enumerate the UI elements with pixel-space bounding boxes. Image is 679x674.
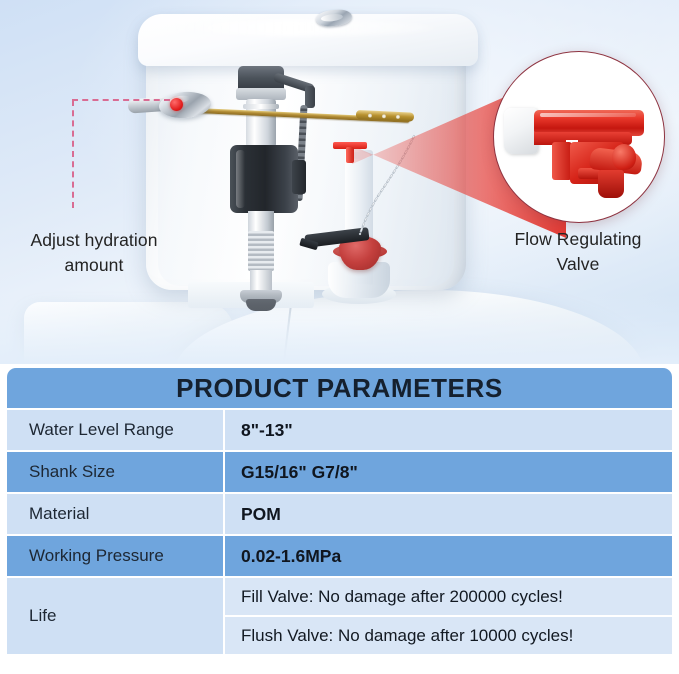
product-parameters-table: PRODUCT PARAMETERS Water Level Range 8"-… (7, 368, 672, 668)
valve-white-cap (504, 108, 538, 154)
left-callout-label: Adjust hydration amount (6, 228, 182, 278)
param-key: Working Pressure (7, 536, 225, 576)
fill-valve-shaft-ring (243, 104, 279, 109)
right-callout-label: Flow Regulating Valve (488, 227, 668, 277)
magnified-valve-circle (493, 51, 665, 223)
param-value: 8"-13" (225, 410, 672, 450)
fill-valve-lever-link (305, 86, 315, 108)
valve-neck (552, 142, 572, 180)
callout-dashed-line-horizontal (72, 99, 170, 101)
life-values: Fill Valve: No damage after 200000 cycle… (225, 578, 672, 654)
param-key: Life (7, 578, 225, 654)
fill-valve-side-tab (292, 160, 306, 194)
table-row: Shank Size G15/16" G7/8" (7, 450, 672, 492)
table-row-life: Life Fill Valve: No damage after 200000 … (7, 576, 672, 654)
hero-bottom-fade (0, 294, 679, 364)
param-value: G15/16" G7/8" (225, 452, 672, 492)
param-value: POM (225, 494, 672, 534)
valve-foot (598, 170, 624, 198)
valve-tube-highlight (540, 113, 636, 117)
param-value: 0.02-1.6MPa (225, 536, 672, 576)
left-callout-line-2: amount (6, 253, 182, 278)
left-callout-line-1: Adjust hydration (6, 228, 182, 253)
product-hero-illustration: Adjust hydration amount Flow Regulating … (0, 0, 679, 364)
life-line: Flush Valve: No damage after 10000 cycle… (225, 615, 672, 654)
adjustment-marker-dot-icon (170, 98, 183, 111)
fill-valve-body-highlight (236, 150, 245, 208)
table-title: PRODUCT PARAMETERS (7, 368, 672, 408)
fill-valve-lower-shaft (250, 270, 272, 292)
life-line: Fill Valve: No damage after 200000 cycle… (225, 578, 672, 615)
valve-adjust-knob (612, 144, 636, 170)
product-detail-page: Adjust hydration amount Flow Regulating … (0, 0, 679, 674)
param-key: Water Level Range (7, 410, 225, 450)
fill-valve-bellows (248, 231, 274, 271)
table-row: Water Level Range 8"-13" (7, 408, 672, 450)
table-row: Material POM (7, 492, 672, 534)
param-key: Material (7, 494, 225, 534)
right-callout-line-1: Flow Regulating (488, 227, 668, 252)
param-key: Shank Size (7, 452, 225, 492)
right-callout-line-2: Valve (488, 252, 668, 277)
tank-lid-highlight (168, 20, 436, 36)
fill-valve-mid-shaft (248, 211, 274, 233)
table-row: Working Pressure 0.02-1.6MPa (7, 534, 672, 576)
callout-dashed-line-vertical (72, 100, 74, 208)
